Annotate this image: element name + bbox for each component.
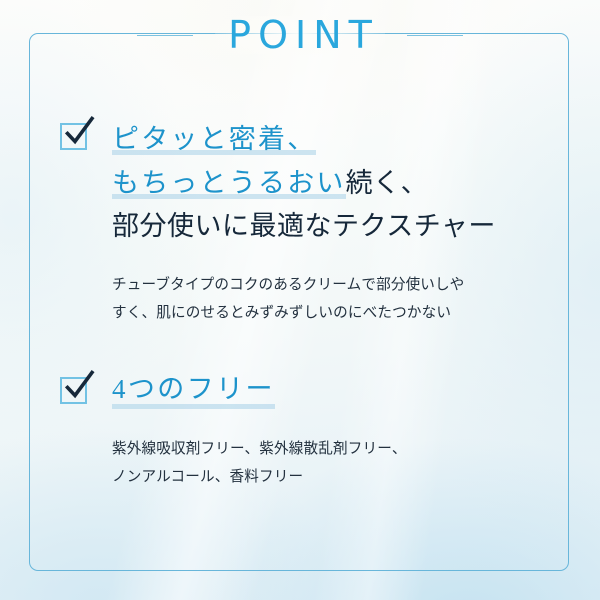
page-title-wrap: POINT [215, 16, 385, 54]
point-item-2-headline: 4つのフリー [112, 372, 275, 409]
page-title: POINT [221, 13, 379, 57]
headline-segment-dark: 部分使いに最適なテクスチャー [112, 211, 496, 241]
point-item-1: ピタッと密着、 もちっとうるおい続く、 部分使いに最適なテクスチャー チューブタ… [0, 118, 600, 327]
point-header: POINT [0, 8, 600, 62]
checkbox-checked-icon [60, 375, 90, 405]
point-item-2: 4つのフリー 紫外線吸収剤フリー、紫外線散乱剤フリー、 ノンアルコール、香料フリ… [0, 372, 600, 491]
headline-line-1: ピタッと密着、 [112, 118, 496, 162]
headline-line-2: もちっとうるおい続く、 [112, 162, 496, 206]
header-rule-left-icon [137, 35, 193, 36]
point-item-2-heading-row: 4つのフリー [0, 372, 600, 409]
checkmark-icon [62, 117, 95, 150]
headline-segment-blue: ピタッと密着、 [112, 124, 316, 155]
body-line: チューブタイプのコクのあるクリームで部分使いしや [112, 271, 600, 299]
body-line: 紫外線吸収剤フリー、紫外線散乱剤フリー、 [112, 435, 600, 463]
checkbox-checked-icon [60, 121, 90, 151]
point-item-2-body: 紫外線吸収剤フリー、紫外線散乱剤フリー、 ノンアルコール、香料フリー [0, 435, 600, 491]
point-item-1-headline: ピタッと密着、 もちっとうるおい続く、 部分使いに最適なテクスチャー [112, 118, 496, 249]
body-line: ノンアルコール、香料フリー [112, 463, 600, 491]
point-item-1-heading-row: ピタッと密着、 もちっとうるおい続く、 部分使いに最適なテクスチャー [0, 118, 600, 249]
point-poster: POINT ピタッと密着、 もちっとうるおい続く、 部分使いに最適なテクスチャー [0, 0, 600, 600]
header-rule-right-icon [407, 35, 463, 36]
point-item-1-body: チューブタイプのコクのあるクリームで部分使いしや すく、肌にのせるとみずみずしい… [0, 271, 600, 327]
headline-line-1: 4つのフリー [112, 372, 275, 409]
headline-segment-blue: もちっとうるおい [112, 168, 346, 199]
checkmark-icon [62, 371, 95, 404]
headline-segment-dark: 続く、 [346, 168, 429, 198]
headline-line-3: 部分使いに最適なテクスチャー [112, 205, 496, 249]
body-line: すく、肌にのせるとみずみずしいのにべたつかない [112, 299, 600, 327]
